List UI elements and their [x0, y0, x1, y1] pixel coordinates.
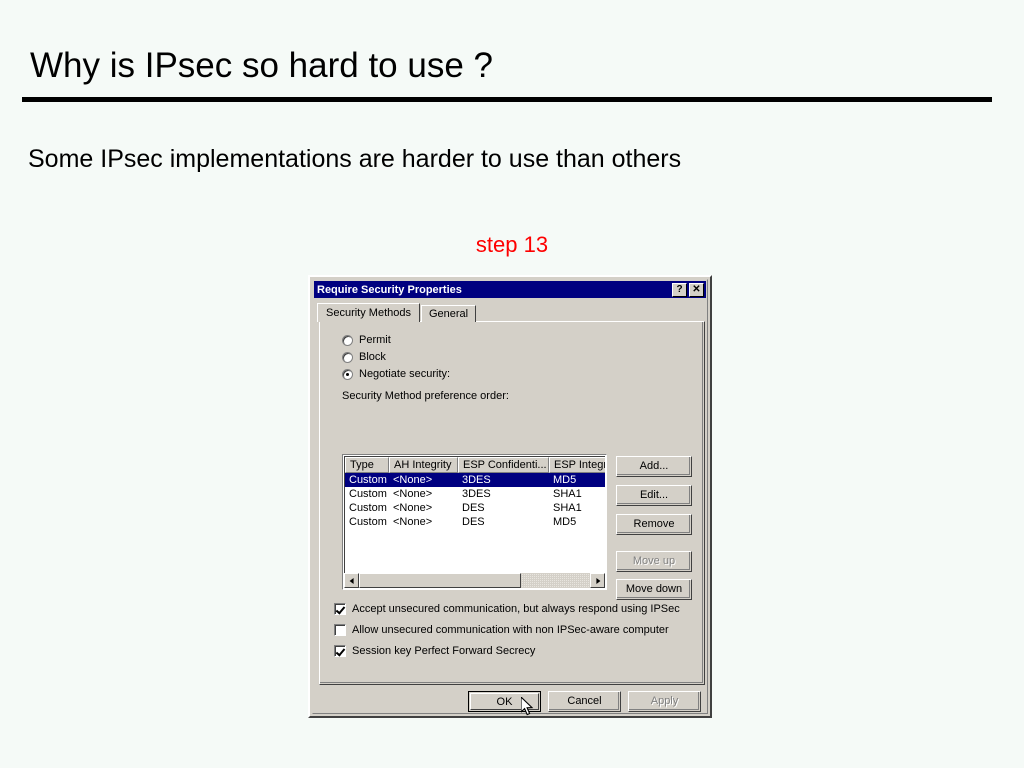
dialog-titlebar: Require Security Properties ? ✕ — [314, 281, 706, 298]
radio-negotiate-security-indicator — [342, 369, 353, 380]
cell-type: Custom — [345, 473, 389, 487]
list-horizontal-scrollbar[interactable] — [344, 573, 605, 588]
tab-general[interactable]: General — [421, 305, 476, 322]
checkbox-allow-unsecured-label: Allow unsecured communication with non I… — [352, 624, 669, 636]
cell-ah-integrity: <None> — [389, 501, 458, 515]
cell-esp-integrity: MD5 — [549, 515, 605, 529]
table-row[interactable]: Custom <None> DES MD5 — [345, 515, 605, 529]
dialog-tabstrip: Security Methods General — [319, 304, 476, 322]
scrollbar-track[interactable] — [359, 573, 590, 588]
checkbox-accept-unsecured[interactable]: Accept unsecured communication, but alwa… — [334, 603, 680, 615]
column-header-ah-integrity[interactable]: AH Integrity — [389, 457, 458, 473]
checkbox-allow-unsecured-indicator — [334, 624, 346, 636]
cell-esp-integrity: SHA1 — [549, 487, 605, 501]
cell-ah-integrity: <None> — [389, 487, 458, 501]
list-inner: Type AH Integrity ESP Confidenti... ESP … — [344, 456, 605, 588]
checkbox-perfect-forward-secrecy[interactable]: Session key Perfect Forward Secrecy — [334, 645, 535, 657]
remove-button[interactable]: Remove — [616, 514, 692, 535]
security-methods-list[interactable]: Type AH Integrity ESP Confidenti... ESP … — [342, 454, 607, 590]
cell-esp-confidentiality: DES — [458, 515, 549, 529]
slide-subtitle: Some IPsec implementations are harder to… — [28, 145, 681, 174]
cell-type: Custom — [345, 487, 389, 501]
cell-esp-confidentiality: 3DES — [458, 487, 549, 501]
step-annotation: step 13 — [0, 232, 1024, 258]
add-button[interactable]: Add... — [616, 456, 692, 477]
scrollbar-thumb[interactable] — [359, 573, 521, 588]
table-row[interactable]: Custom <None> 3DES MD5 — [345, 473, 605, 487]
column-header-esp-confidentiality[interactable]: ESP Confidenti... — [458, 457, 549, 473]
column-header-esp-integrity[interactable]: ESP Integri — [549, 457, 605, 473]
cell-type: Custom — [345, 515, 389, 529]
ok-button-label: OK — [470, 693, 539, 710]
radio-block[interactable]: Block — [342, 351, 386, 363]
table-row[interactable]: Custom <None> DES SHA1 — [345, 501, 605, 515]
cell-esp-confidentiality: DES — [458, 501, 549, 515]
security-method-order-label: Security Method preference order: — [342, 390, 509, 402]
checkbox-accept-unsecured-label: Accept unsecured communication, but alwa… — [352, 603, 680, 615]
edit-button[interactable]: Edit... — [616, 485, 692, 506]
checkbox-perfect-forward-secrecy-indicator — [334, 645, 346, 657]
checkbox-perfect-forward-secrecy-label: Session key Perfect Forward Secrecy — [352, 645, 535, 657]
cell-esp-confidentiality: 3DES — [458, 473, 549, 487]
cell-ah-integrity: <None> — [389, 515, 458, 529]
list-rows: Custom <None> 3DES MD5 Custom <None> 3DE… — [345, 473, 605, 529]
cell-esp-integrity: MD5 — [549, 473, 605, 487]
move-down-button[interactable]: Move down — [616, 579, 692, 600]
radio-negotiate-security-label: Negotiate security: — [359, 368, 450, 380]
cell-ah-integrity: <None> — [389, 473, 458, 487]
scroll-right-icon[interactable] — [590, 573, 605, 588]
radio-block-label: Block — [359, 351, 386, 363]
checkbox-accept-unsecured-indicator — [334, 603, 346, 615]
cancel-button[interactable]: Cancel — [548, 691, 621, 712]
dialog-title: Require Security Properties — [317, 284, 670, 296]
close-icon[interactable]: ✕ — [689, 283, 704, 297]
cell-type: Custom — [345, 501, 389, 515]
radio-negotiate-security[interactable]: Negotiate security: — [342, 368, 450, 380]
ok-button[interactable]: OK — [468, 691, 541, 712]
title-divider — [22, 97, 992, 102]
tab-security-methods[interactable]: Security Methods — [317, 303, 420, 322]
radio-permit[interactable]: Permit — [342, 334, 391, 346]
scroll-left-icon[interactable] — [344, 573, 359, 588]
page-title: Why is IPsec so hard to use ? — [30, 46, 493, 86]
radio-block-indicator — [342, 352, 353, 363]
column-header-type[interactable]: Type — [345, 457, 389, 473]
security-methods-panel: Permit Block Negotiate security: Securit… — [319, 321, 705, 685]
table-row[interactable]: Custom <None> 3DES SHA1 — [345, 487, 605, 501]
help-icon[interactable]: ? — [672, 283, 687, 297]
radio-permit-label: Permit — [359, 334, 391, 346]
checkbox-allow-unsecured[interactable]: Allow unsecured communication with non I… — [334, 624, 669, 636]
apply-button: Apply — [628, 691, 701, 712]
list-header-row: Type AH Integrity ESP Confidenti... ESP … — [345, 457, 605, 473]
move-up-button: Move up — [616, 551, 692, 572]
radio-permit-indicator — [342, 335, 353, 346]
require-security-properties-dialog: Require Security Properties ? ✕ Security… — [308, 275, 712, 718]
cell-esp-integrity: SHA1 — [549, 501, 605, 515]
